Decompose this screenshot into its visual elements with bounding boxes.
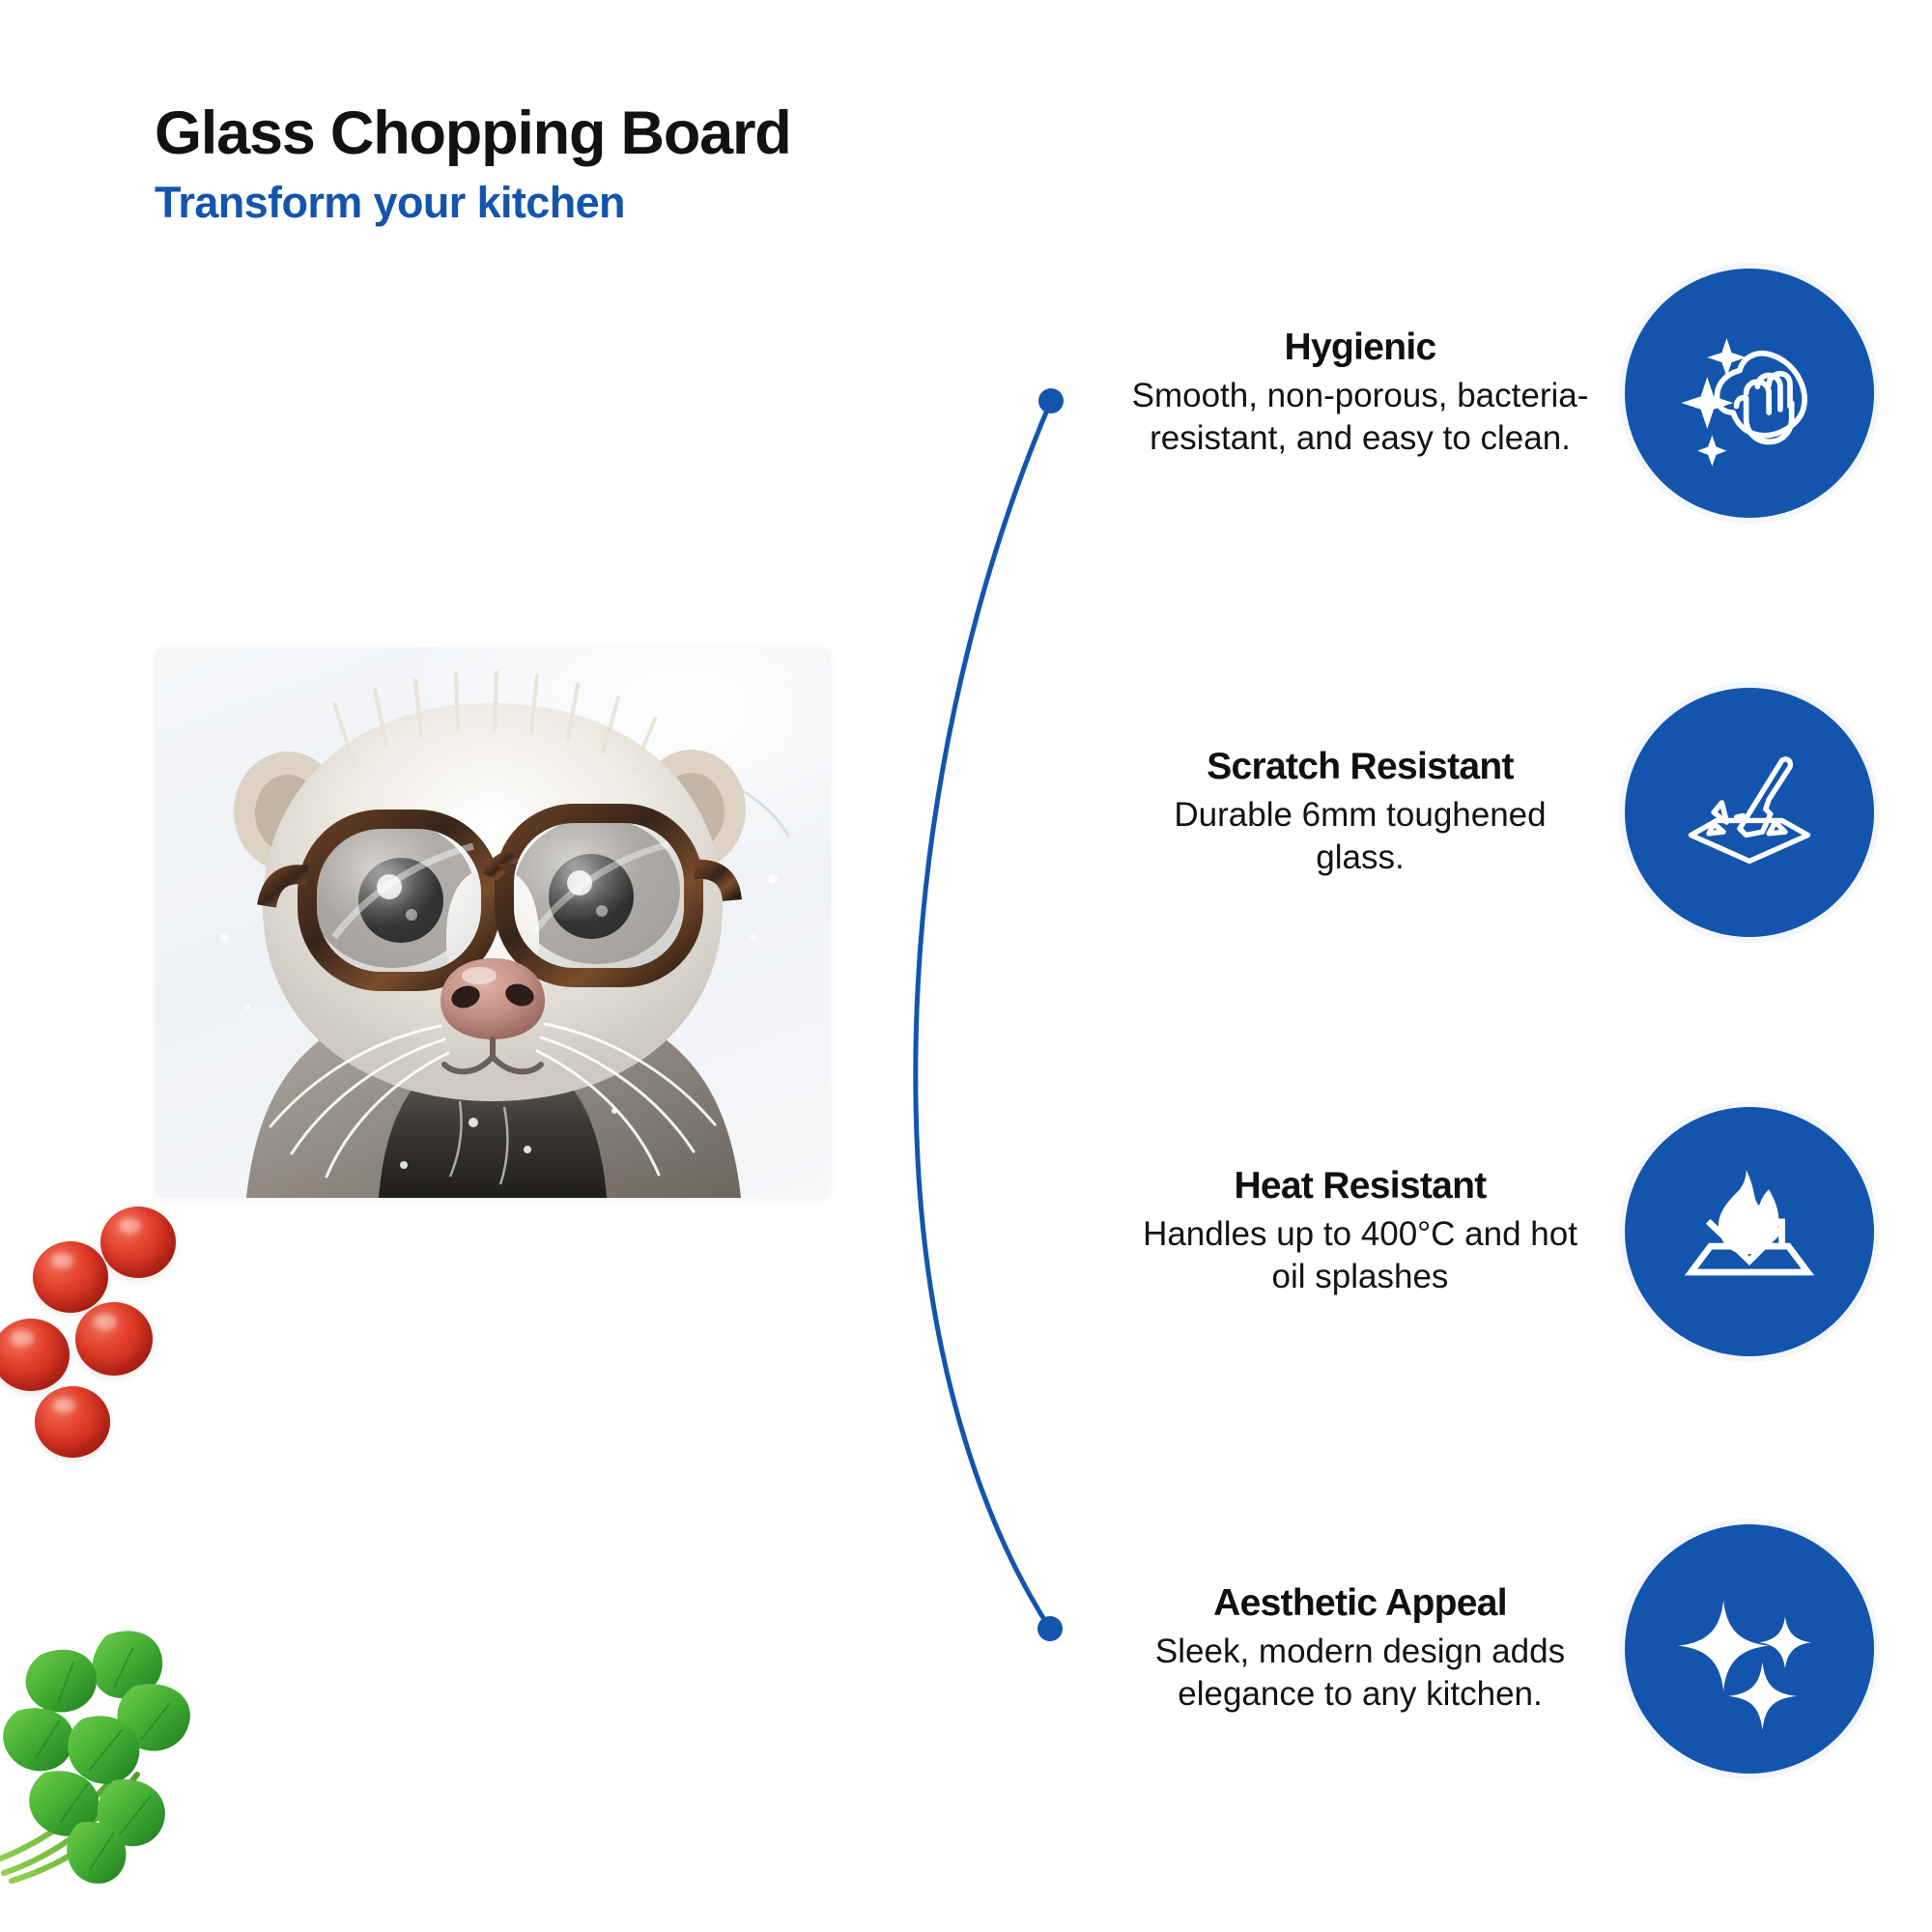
hand-wiping-sparkle-icon: [1668, 312, 1831, 474]
header: Glass Chopping Board Transform your kitc…: [155, 101, 791, 227]
feature-text: Hygienic Smooth, non-porous, bacteria-re…: [1128, 327, 1592, 460]
feature-icon-badge: [1625, 269, 1874, 518]
feature-icon-badge: [1625, 1107, 1874, 1356]
feature-text: Heat Resistant Handles up to 400°C and h…: [1128, 1165, 1592, 1298]
feature-icon-badge: [1625, 1524, 1874, 1774]
glass-chopping-board: [155, 647, 831, 1198]
cherry-tomato: [100, 1207, 176, 1278]
flame-deflect-surface-icon: [1668, 1151, 1831, 1313]
feature-text: Aesthetic Appeal Sleek, modern design ad…: [1128, 1582, 1592, 1716]
page-title: Glass Chopping Board: [155, 101, 791, 165]
feature-item-hygienic: Hygienic Smooth, non-porous, bacteria-re…: [1043, 269, 1874, 518]
feature-text: Scratch Resistant Durable 6mm toughened …: [1128, 746, 1592, 879]
feature-icon-badge: [1625, 688, 1874, 937]
feature-list: Hygienic Smooth, non-porous, bacteria-re…: [1043, 0, 1932, 1932]
page-subtitle: Transform your kitchen: [155, 179, 791, 227]
knife-impact-surface-icon: [1668, 731, 1831, 894]
cherry-tomato: [33, 1241, 108, 1313]
feature-title: Heat Resistant: [1128, 1165, 1592, 1207]
feature-title: Hygienic: [1128, 327, 1592, 369]
feature-title: Scratch Resistant: [1128, 746, 1592, 788]
cherry-tomato: [75, 1302, 153, 1376]
feature-description: Handles up to 400°C and hot oil splashes: [1128, 1213, 1592, 1298]
feature-title: Aesthetic Appeal: [1128, 1582, 1592, 1625]
feature-description: Durable 6mm toughened glass.: [1128, 794, 1592, 879]
feature-description: Sleek, modern design adds elegance to an…: [1128, 1631, 1592, 1716]
feature-item-aesthetic-appeal: Aesthetic Appeal Sleek, modern design ad…: [1043, 1524, 1874, 1774]
cherry-tomato: [35, 1386, 110, 1458]
product-image-stage: [0, 599, 869, 1314]
cherry-tomato: [0, 1319, 70, 1391]
feature-item-heat-resistant: Heat Resistant Handles up to 400°C and h…: [1043, 1107, 1874, 1356]
feature-item-scratch-resistant: Scratch Resistant Durable 6mm toughened …: [1043, 688, 1874, 937]
ferret-artwork: [155, 647, 831, 1198]
parsley-sprig: [0, 1618, 222, 1889]
feature-description: Smooth, non-porous, bacteria-resistant, …: [1128, 375, 1592, 460]
sparkles-icon: [1668, 1568, 1831, 1730]
